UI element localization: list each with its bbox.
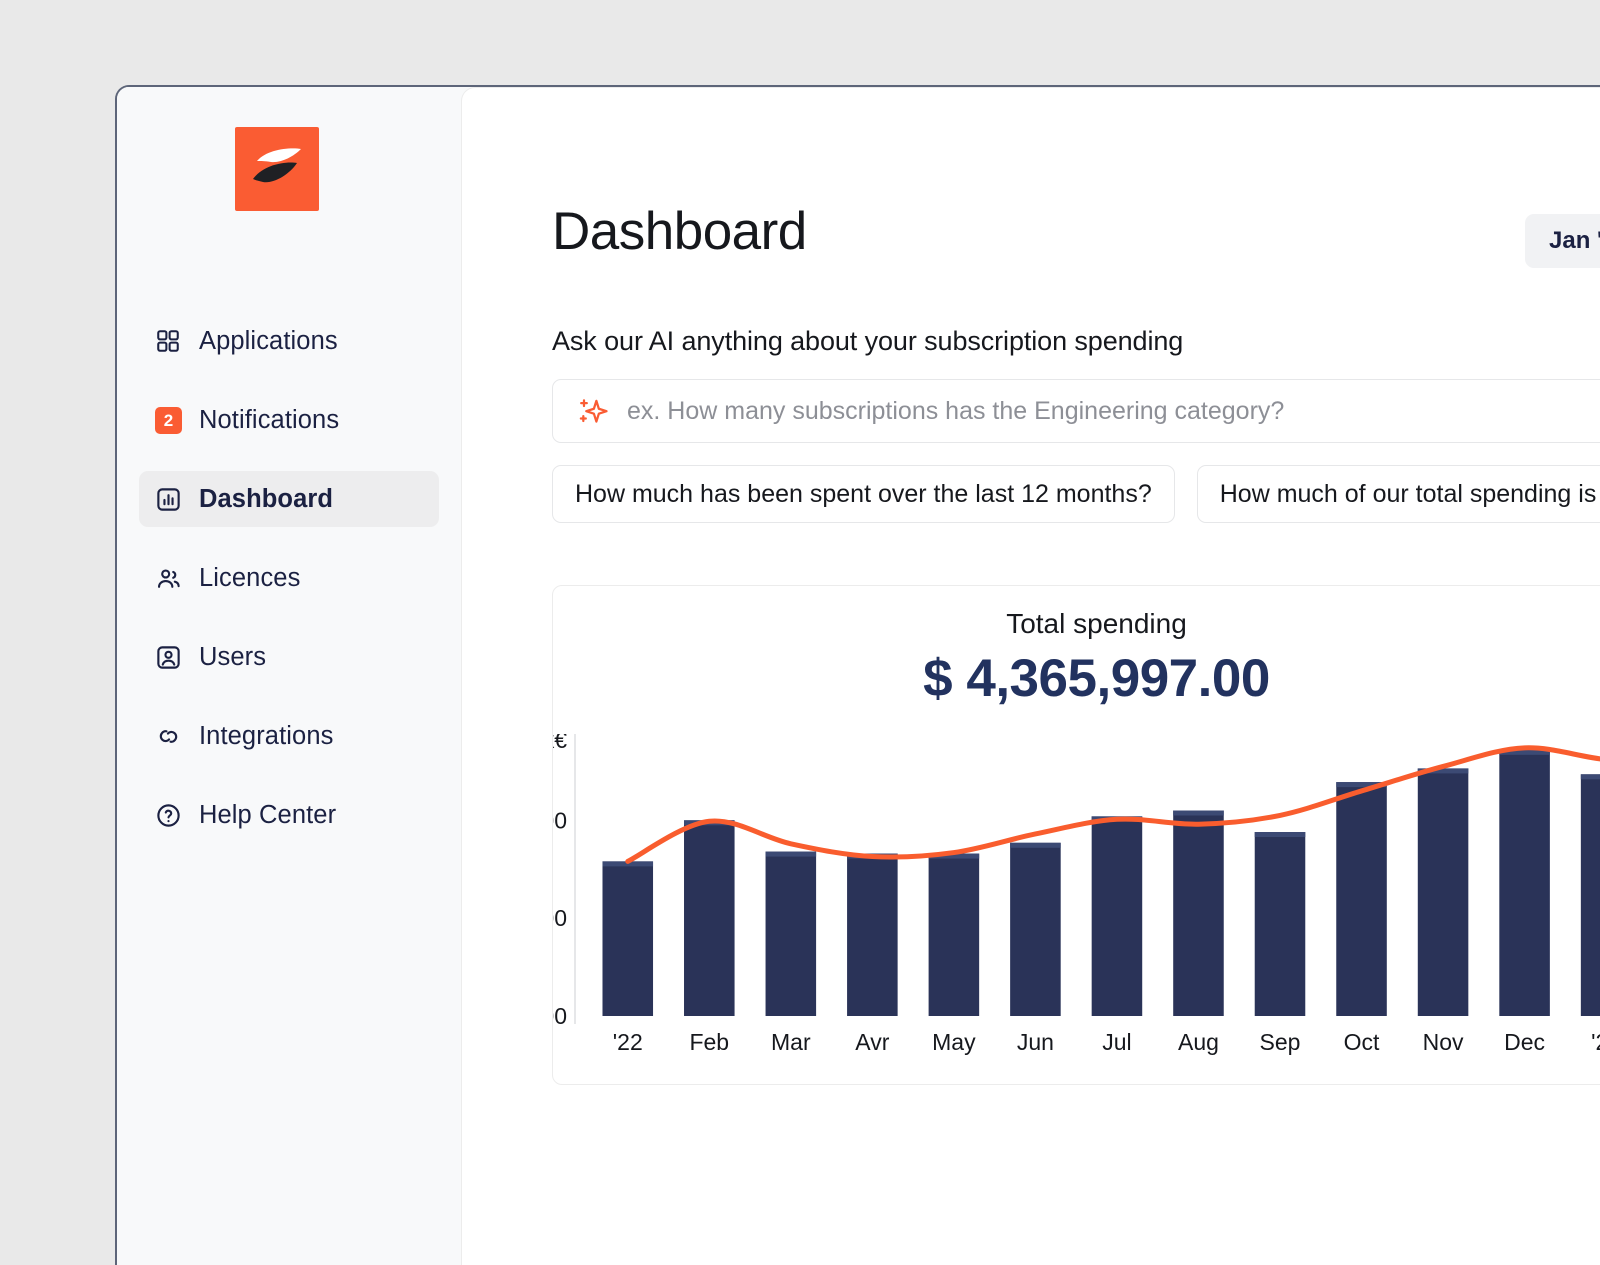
svg-text:300: 300	[553, 807, 567, 833]
sidebar-item-label: Dashboard	[199, 485, 333, 514]
sidebar-item-label: Users	[199, 643, 266, 672]
svg-text:Feb: Feb	[689, 1029, 729, 1055]
user-card-icon	[155, 644, 185, 671]
ask-ai-input[interactable]	[627, 397, 1600, 426]
ask-ai-label: Ask our AI anything about your subscript…	[552, 326, 1600, 357]
sidebar-item-label: Help Center	[199, 801, 336, 830]
sidebar: Applications 2 Notifications	[117, 87, 461, 1265]
svg-text:Sep: Sep	[1260, 1029, 1301, 1055]
question-circle-icon	[155, 802, 185, 829]
svg-text:'22: '22	[613, 1029, 643, 1055]
date-range-toggle: Jan '22 - Today Last 12 months	[1525, 214, 1600, 268]
svg-text:Oct: Oct	[1344, 1029, 1380, 1055]
range-custom-button[interactable]: Jan '22 - Today	[1529, 218, 1600, 264]
suggestion-chip[interactable]: How much has been spent over the last 12…	[552, 465, 1175, 523]
chart-title: Total spending	[553, 608, 1600, 640]
bar-chart-icon	[155, 486, 185, 513]
spending-chart[interactable]: k€100200300'22FebMarAvrMayJunJulAugSepOc…	[553, 734, 1600, 1084]
app-logo[interactable]	[235, 127, 319, 211]
svg-text:Mar: Mar	[771, 1029, 811, 1055]
page-header: Dashboard	[552, 196, 1600, 266]
sparkle-icon	[575, 393, 613, 429]
app-window: Applications 2 Notifications	[115, 85, 1600, 1265]
users-icon	[155, 565, 185, 592]
svg-text:May: May	[932, 1029, 976, 1055]
sidebar-item-licences[interactable]: Licences	[139, 550, 439, 606]
svg-text:Aug: Aug	[1178, 1029, 1219, 1055]
grid-icon	[155, 328, 185, 354]
svg-text:Jun: Jun	[1017, 1029, 1054, 1055]
sidebar-item-label: Notifications	[199, 406, 339, 435]
sidebar-item-integrations[interactable]: Integrations	[139, 708, 439, 764]
svg-text:200: 200	[553, 905, 567, 931]
main-content: Dashboard Jan '22 - Today Last 12 months…	[461, 87, 1600, 1265]
svg-text:100: 100	[553, 1003, 567, 1029]
sidebar-item-users[interactable]: Users	[139, 629, 439, 685]
ask-ai-input-wrapper[interactable]	[552, 379, 1600, 443]
link-icon	[155, 723, 185, 750]
sidebar-item-label: Integrations	[199, 722, 333, 751]
sidebar-item-applications[interactable]: Applications	[139, 313, 439, 369]
badge-icon: 2	[155, 407, 185, 434]
sidebar-item-label: Licences	[199, 564, 300, 593]
svg-text:'23: '23	[1591, 1029, 1600, 1055]
sidebar-item-label: Applications	[199, 327, 338, 356]
svg-text:Avr: Avr	[855, 1029, 889, 1055]
suggestion-chip[interactable]: How much of our total spending is al	[1197, 465, 1600, 523]
page-title: Dashboard	[552, 205, 807, 258]
total-spending-value: $ 4,365,997.00	[553, 648, 1600, 709]
notification-count-badge: 2	[155, 407, 182, 434]
sidebar-nav: Applications 2 Notifications	[117, 313, 461, 843]
svg-text:k€: k€	[553, 734, 567, 753]
svg-text:Jul: Jul	[1102, 1029, 1131, 1055]
svg-text:Nov: Nov	[1423, 1029, 1464, 1055]
suggestion-chips: How much has been spent over the last 12…	[552, 465, 1600, 523]
chart-svg: k€100200300'22FebMarAvrMayJunJulAugSepOc…	[553, 734, 1600, 1064]
sidebar-item-dashboard[interactable]: Dashboard	[139, 471, 439, 527]
sidebar-item-help-center[interactable]: Help Center	[139, 787, 439, 843]
svg-text:Dec: Dec	[1504, 1029, 1545, 1055]
range-custom-label: Jan '22 - Today	[1549, 227, 1600, 255]
total-spending-card: Total spending $ 4,365,997.00 k€10020030…	[552, 585, 1600, 1085]
sidebar-item-notifications[interactable]: 2 Notifications	[139, 392, 439, 448]
